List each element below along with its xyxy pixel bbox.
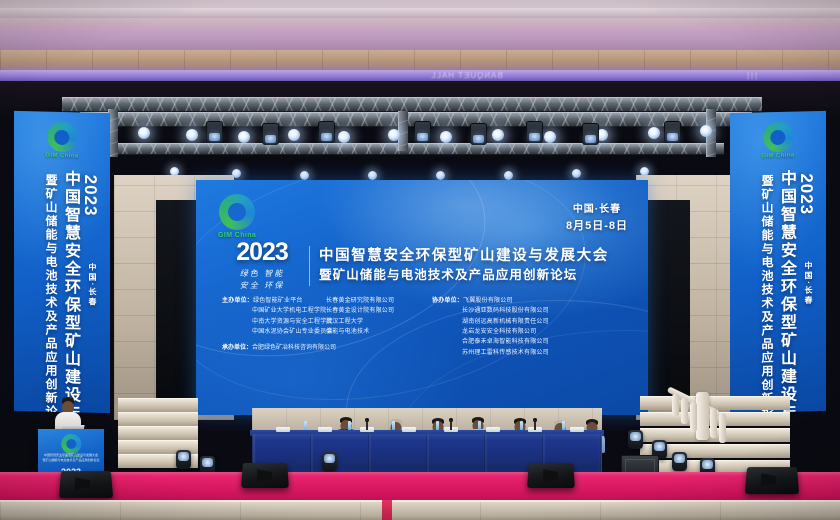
water-bottle [520,421,523,430]
ceiling-beam [0,8,840,18]
screen-slogan-line2: 安全 环保 [224,280,300,292]
stage-lamp [440,131,452,143]
water-bottle [392,421,395,430]
stage-dark-recess-right [648,200,690,400]
co-host-item: 长沙通亚数码科技股份有限公司 [432,306,634,316]
name-plate [402,427,416,432]
organizer-value: 合肥绿色矿冶科技咨询有限公司 [252,345,336,351]
host-item: 储能与电池技术 [326,327,422,337]
podium-title-secondary: 暨矿山储能与电池技术及产品应用创新论坛 [42,458,100,463]
co-host-label: 协办单位： [432,298,463,304]
co-host-item: 湖南创远高新机械有限责任公司 [432,317,634,327]
main-led-screen: GIM China 中国·长春 8月5日-8日 2023 绿色 智能 安全 环保… [196,180,648,415]
screen-slogan-line1: 绿色 智能 [224,268,300,280]
truss-beam-top [62,97,762,112]
upper-wall-band [0,50,840,72]
banner-left-title-secondary: 暨矿山储能与电池技术及产品应用创新论坛 [43,174,60,414]
gim-china-logo: GIM China [761,122,794,160]
stair-step [118,426,198,440]
banner-right-title-primary: 中国智慧安全环保型矿山建设与发展大会 [774,170,798,414]
floor-moving-light [322,452,337,471]
newel-post [696,392,709,440]
stage-lamp [436,171,445,180]
gim-logo-text: GIM China [761,153,794,160]
moving-head-light [262,123,279,145]
ceiling-sign-text: BANQUET HALL [430,71,503,80]
floor-moving-light [628,430,643,449]
stair-step [118,412,198,426]
truss-beam-lower [112,143,724,155]
gim-logo-mark [219,194,255,230]
host-item: 中国水泥协会矿山专业委员会 [222,327,326,337]
stage-lamp [368,171,377,180]
ceiling-sign-text-secondary: ||| [745,71,757,80]
banner-right-title-secondary: 暨矿山储能与电池技术及产品应用创新论坛 [759,174,776,413]
title-divider [309,246,310,286]
water-bottle [562,421,565,430]
moving-head-light [414,121,431,143]
gim-logo-mark [61,434,81,454]
screen-title-row: 2023 绿色 智能 安全 环保 中国智慧安全环保型矿山建设与发展大会 暨矿山储… [224,240,624,292]
co-host-item: 苏州理工雷科传感技术有限公司 [432,348,634,358]
stage-floor-monitor [527,463,575,488]
organizer-label: 承办单位： [222,345,252,351]
co-host-column: 协办单位：飞翼股份有限公司 长沙通亚数码科技股份有限公司 湖南创远高新机械有限责… [422,296,634,358]
host-item: 长春黄金研究院有限公司 [326,296,422,306]
gim-china-logo: GIM China [218,194,256,239]
moving-head-light [206,121,223,143]
balustrade-right [672,380,732,458]
baluster [690,402,697,432]
host-column-two: 长春黄金研究院有限公司 长春黄金设计院有限公司 武汉工程大学 储能与电池技术 [326,296,422,358]
conference-stage-photo: BANQUET HALL ||| [0,0,840,520]
host-label-row: 主办单位：绿色智能矿业平台 [222,296,326,306]
banner-left-location: 中国·长春 [87,263,98,308]
name-plate [318,427,332,432]
banner-left-title-primary: 中国智慧安全环保型矿山建设与发展大会 [58,170,82,413]
water-bottle [348,421,351,430]
banner-right-location: 中国·长春 [803,261,814,306]
baluster [681,398,688,424]
host-item: 绿色智能矿业平台 [253,298,303,304]
screen-slogan: 绿色 智能 安全 环保 [224,268,300,292]
stage-floor-monitor [745,467,799,494]
screen-location-block: 中国·长春 8月5日-8日 [566,202,628,235]
stage-lamp [388,129,400,141]
name-plate [570,427,584,432]
water-bottle [436,421,439,430]
screen-title-primary: 中国智慧安全环保型矿山建设与发展大会 [319,247,624,267]
host-item: 中南大学资源与安全工程学院 [222,317,326,327]
stage-dark-recess-left [156,200,198,400]
moving-head-light [470,123,487,145]
ceiling-led-strip: BANQUET HALL ||| [0,70,840,81]
truss-upright-center [398,111,408,151]
host-item: 长春黄金设计院有限公司 [326,306,422,316]
name-plate [486,427,500,432]
name-plate [276,427,290,432]
banner-right-year: 2023 [796,173,816,215]
banner-left-year: 2023 [80,174,100,216]
microphone [366,420,368,430]
stage-lamp [300,171,309,180]
moving-head-light [582,123,599,145]
baluster [672,394,679,416]
co-host-item: 飞翼股份有限公司 [463,298,513,304]
stage-lamp [492,129,504,141]
moving-head-light [664,121,681,143]
stage-lamp [700,125,712,137]
water-bottle [478,421,481,430]
stage-lamp [186,129,198,141]
stage-lamp [648,127,660,139]
host-item: 中国矿业大学机电工程学院 [222,306,326,316]
vertical-banner-left: GIM China 2023 中国·长春 中国智慧安全环保型矿山建设与发展大会 … [14,111,110,413]
vertical-banner-right: GIM China 2023 中国·长春 中国智慧安全环保型矿山建设与发展大会 … [730,111,826,413]
co-host-item: 合肥泰禾卓海智能科技有限公司 [432,337,634,347]
floor-moving-light [672,452,687,471]
gim-logo-text: GIM China [45,153,78,160]
host-item: 武汉工程大学 [326,317,422,327]
stair-step [118,398,198,412]
ceiling [0,0,840,56]
moving-head-light [318,121,335,143]
podium-title-block: 中国智慧安全环保型矿山建设与发展大会 暨矿山储能与电池技术及产品应用创新论坛 [42,453,100,463]
baluster [710,408,717,438]
screen-year: 2023 [224,240,300,265]
screen-dates: 8月5日-8日 [566,218,628,235]
stage-lamp [338,131,350,143]
gim-logo-mark [47,122,77,153]
stage-lamp [544,131,556,143]
stage-floor-monitor [59,471,113,498]
co-host-item: 龙岩龙安安全科技有限公司 [432,327,634,337]
ceiling-light-glow [0,30,840,52]
front-step-red-marker [382,500,392,520]
moving-head-light [526,121,543,143]
front-stage-step [0,500,840,520]
stage-lamp [238,131,250,143]
stage-lamp [504,171,513,180]
host-label: 主办单位： [222,298,253,304]
screen-location: 中国·长春 [566,202,628,218]
water-bottle [304,421,307,430]
stage-lamp [138,127,150,139]
organizer-row: 承办单位：合肥绿色矿冶科技咨询有限公司 [222,342,336,351]
co-host-label-row: 协办单位：飞翼股份有限公司 [432,296,634,306]
stage-lamp [572,169,581,178]
screen-year-block: 2023 绿色 智能 安全 环保 [224,240,300,292]
microphone [450,420,452,430]
gim-logo-mark [763,122,793,153]
microphone [534,420,536,430]
gim-china-logo: GIM China [45,122,78,160]
baluster [719,413,726,443]
screen-title-secondary: 暨矿山储能与电池技术及产品应用创新论坛 [319,267,624,285]
stage-lamp [288,129,300,141]
stage-floor-monitor [241,463,289,488]
screen-titles: 中国智慧安全环保型矿山建设与发展大会 暨矿山储能与电池技术及产品应用创新论坛 [319,247,624,284]
floor-moving-light [176,450,191,469]
